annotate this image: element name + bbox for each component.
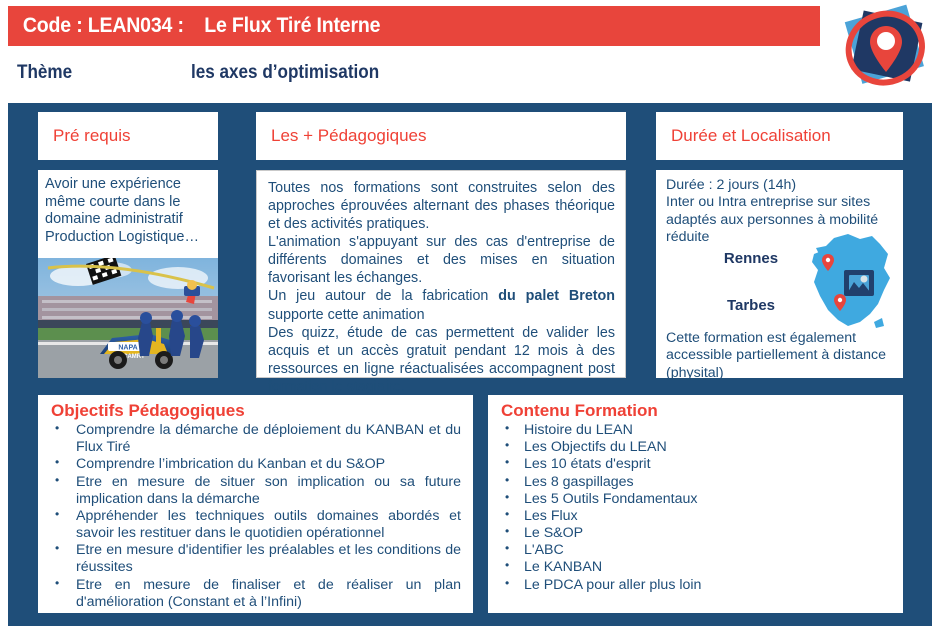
list-item: Etre en mesure d'identifier les préalabl… xyxy=(38,542,473,576)
list-item: Le S&OP xyxy=(488,525,903,542)
city-rennes: Rennes xyxy=(656,250,816,267)
pedagogy-paragraph-1: Toutes nos formations sont construites s… xyxy=(268,179,615,233)
content-list: Histoire du LEAN Les Objectifs du LEAN L… xyxy=(488,422,903,594)
list-item: Le KANBAN xyxy=(488,559,903,576)
pedagogy-paragraph-game: Un jeu autour de la fabrication du palet… xyxy=(268,287,615,323)
theme-label: Thème xyxy=(8,62,72,84)
list-item: Histoire du LEAN xyxy=(488,422,903,439)
list-item: L'ABC xyxy=(488,542,903,559)
game-line-bold: du palet Breton xyxy=(498,288,615,304)
course-title: Le Flux Tiré Interne xyxy=(184,14,381,37)
city-list: Rennes Tarbes xyxy=(656,250,816,314)
duration-card: Durée : 2 jours (14h) Inter ou Intra ent… xyxy=(656,170,903,378)
nascar-pit-stop-photo: NAPA CAMRY xyxy=(38,258,218,378)
course-title-bar: Code : LEAN034 :Le Flux Tiré Interne xyxy=(8,6,820,46)
prerequisites-header: Pré requis xyxy=(38,112,218,160)
city-tarbes: Tarbes xyxy=(656,297,816,314)
list-item: Comprendre la démarche de déploiement du… xyxy=(38,422,473,456)
duration-footer: Cette formation est également accessible… xyxy=(656,330,903,382)
objectives-card: Objectifs Pédagogiques Comprendre la dém… xyxy=(38,395,473,613)
duration-heading: Durée et Localisation xyxy=(656,126,831,146)
list-item: Appréhender les techniques outils domain… xyxy=(38,508,473,542)
course-code-and-title: Code : LEAN034 :Le Flux Tiré Interne xyxy=(8,14,380,38)
content-heading: Contenu Formation xyxy=(488,395,903,422)
pedagogy-header: Les + Pédagogiques xyxy=(256,112,626,160)
list-item: Comprendre l’imbrication du Kanban et du… xyxy=(38,456,473,473)
list-item: Etre en mesure de situer son implication… xyxy=(38,474,473,508)
pedagogy-text: Toutes nos formations sont construites s… xyxy=(257,171,625,396)
pedagogy-heading: Les + Pédagogiques xyxy=(256,126,427,146)
course-code: Code : LEAN034 : xyxy=(23,14,184,37)
objectives-list: Comprendre la démarche de déploiement du… xyxy=(38,422,473,611)
list-item: Les Flux xyxy=(488,508,903,525)
france-map-with-pins-icon xyxy=(804,230,896,334)
content-card: Contenu Formation Histoire du LEAN Les O… xyxy=(488,395,903,613)
game-line-suffix: supporte cette animation xyxy=(268,307,425,323)
list-item: Le PDCA pour aller plus loin xyxy=(488,577,903,594)
objectives-heading: Objectifs Pédagogiques xyxy=(38,395,473,422)
pedagogy-paragraph-3: Des quizz, étude de cas permettent de va… xyxy=(268,324,615,396)
theme-row: Thème les axes d’optimisation xyxy=(8,56,820,90)
list-item: Les 5 Outils Fondamentaux xyxy=(488,491,903,508)
theme-value: les axes d’optimisation xyxy=(191,62,379,84)
svg-text:NAPA: NAPA xyxy=(118,345,137,352)
company-logo-location-pin-icon xyxy=(836,2,936,98)
course-sheet: Code : LEAN034 :Le Flux Tiré Interne Thè… xyxy=(0,0,940,637)
prerequisites-heading: Pré requis xyxy=(38,126,130,146)
main-content-panel: Pré requis Avoir une expérience même cou… xyxy=(8,103,932,626)
list-item: Les 10 états d'esprit xyxy=(488,456,903,473)
prerequisites-text: Avoir une expérience même courte dans le… xyxy=(38,170,218,247)
pedagogy-card: Toutes nos formations sont construites s… xyxy=(256,170,626,378)
prerequisites-card: Avoir une expérience même courte dans le… xyxy=(38,170,218,378)
duration-header: Durée et Localisation xyxy=(656,112,903,160)
list-item: Etre en mesure de finaliser et de réalis… xyxy=(38,577,473,611)
list-item: Les 8 gaspillages xyxy=(488,474,903,491)
list-item: Les Objectifs du LEAN xyxy=(488,439,903,456)
game-line-prefix: Un jeu autour de la fabrication xyxy=(268,288,498,304)
pedagogy-paragraph-2: L'animation s'appuyant sur des cas d'ent… xyxy=(268,233,615,287)
